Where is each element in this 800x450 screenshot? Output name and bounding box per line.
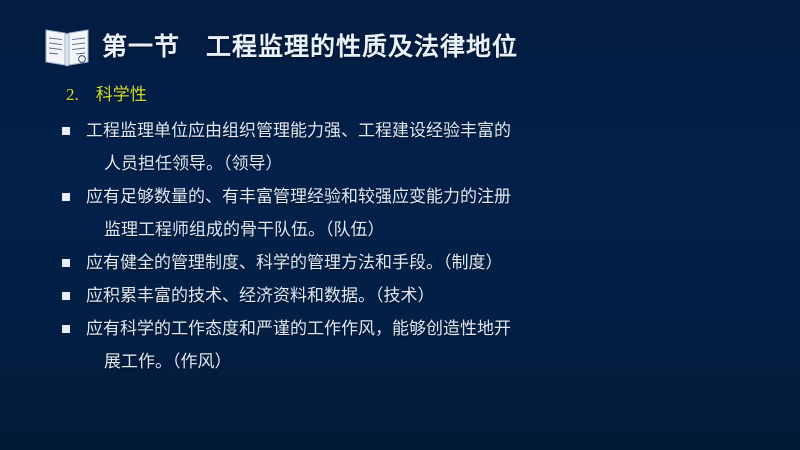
list-item: 应有足够数量的、有丰富管理经验和较强应变能力的注册 监理工程师组成的骨干队伍。（… xyxy=(56,180,756,246)
bullet-line: 展工作。（作风） xyxy=(104,345,756,378)
bullet-line: 工程监理单位应由组织管理能力强、工程建设经验丰富的 xyxy=(86,114,756,147)
square-bullet-icon xyxy=(62,325,70,333)
list-item: 工程监理单位应由组织管理能力强、工程建设经验丰富的 人员担任领导。（领导） xyxy=(56,114,756,180)
page-title: 第一节 工程监理的性质及法律地位 xyxy=(102,35,518,60)
presentation-slide: 第一节 工程监理的性质及法律地位 2. 科学性 工程监理单位应由组织管理能力强、… xyxy=(0,0,800,450)
bullet-line: 监理工程师组成的骨干队伍。（队伍） xyxy=(104,213,756,246)
list-item: 应有科学的工作态度和严谨的工作作风，能够创造性地开 展工作。（作风） xyxy=(56,312,756,378)
sub-heading: 2. 科学性 xyxy=(66,80,756,110)
square-bullet-icon xyxy=(62,292,70,300)
bullet-line: 人员担任领导。（领导） xyxy=(104,147,756,180)
list-item: 应积累丰富的技术、经济资料和数据。（技术） xyxy=(56,279,756,312)
open-book-icon xyxy=(44,26,90,68)
bullet-line: 应有健全的管理制度、科学的管理方法和手段。（制度） xyxy=(86,246,756,279)
list-item: 应有健全的管理制度、科学的管理方法和手段。（制度） xyxy=(56,246,756,279)
slide-title-row: 第一节 工程监理的性质及法律地位 xyxy=(44,24,518,70)
square-bullet-icon xyxy=(62,259,70,267)
slide-body: 2. 科学性 工程监理单位应由组织管理能力强、工程建设经验丰富的 人员担任领导。… xyxy=(56,80,756,378)
bullet-line: 应有科学的工作态度和严谨的工作作风，能够创造性地开 xyxy=(86,312,756,345)
bullet-line: 应有足够数量的、有丰富管理经验和较强应变能力的注册 xyxy=(86,180,756,213)
bullet-line: 应积累丰富的技术、经济资料和数据。（技术） xyxy=(86,279,756,312)
square-bullet-icon xyxy=(62,193,70,201)
bullet-list: 工程监理单位应由组织管理能力强、工程建设经验丰富的 人员担任领导。（领导） 应有… xyxy=(56,114,756,378)
square-bullet-icon xyxy=(62,127,70,135)
